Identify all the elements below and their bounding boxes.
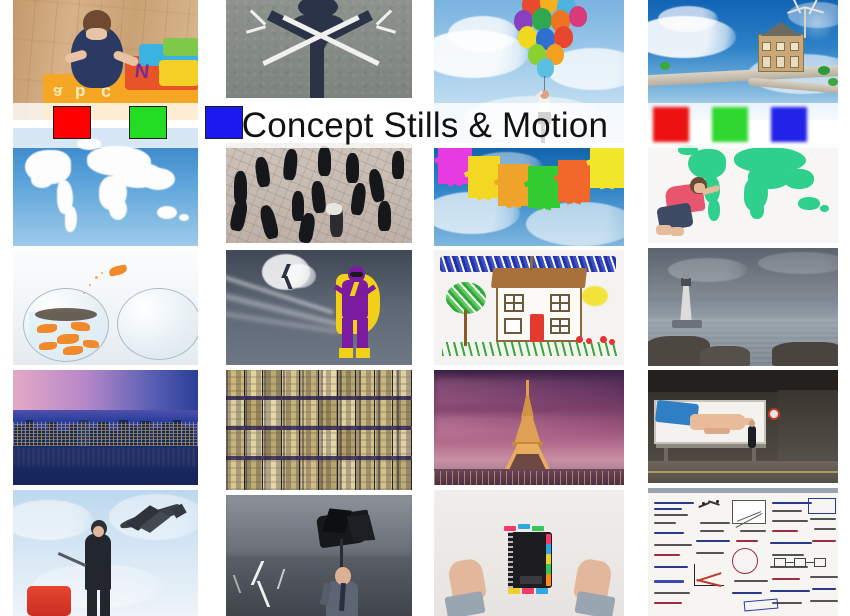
tile-girl-alphabet-puzzle[interactable]: a b c N bbox=[13, 0, 198, 120]
tile-commuters-overhead[interactable] bbox=[226, 143, 412, 243]
tile-lighthouse-seascape[interactable] bbox=[648, 248, 838, 366]
tile-office-windows[interactable] bbox=[226, 370, 412, 490]
red-swatch bbox=[53, 106, 91, 139]
rgb-swatches-right bbox=[653, 107, 807, 142]
tile-broken-umbrella-lightning[interactable] bbox=[226, 495, 412, 616]
blue-swatch bbox=[205, 106, 243, 139]
tile-child-green-world-map[interactable] bbox=[648, 143, 838, 243]
red-swatch bbox=[653, 107, 689, 142]
column-4 bbox=[648, 0, 838, 616]
tile-goldfish-bowls[interactable] bbox=[13, 250, 198, 365]
column-3 bbox=[434, 0, 624, 616]
green-swatch bbox=[129, 106, 167, 139]
tile-house-branch-windmill[interactable] bbox=[648, 0, 838, 120]
tile-whiteboard-strategy[interactable] bbox=[648, 488, 838, 616]
column-1: a b c N bbox=[13, 0, 198, 616]
tile-shadow-arrows[interactable] bbox=[226, 0, 412, 98]
column-2 bbox=[226, 0, 412, 616]
collage-page: a b c N bbox=[0, 0, 850, 616]
tile-city-skyline-night[interactable] bbox=[13, 370, 198, 485]
tile-notebook-hands[interactable] bbox=[434, 490, 624, 616]
tile-businessman-airplane[interactable] bbox=[13, 490, 198, 616]
tile-eiffel-tower[interactable] bbox=[434, 370, 624, 485]
tile-child-house-drawing[interactable] bbox=[434, 250, 624, 365]
tile-superhero-storm[interactable] bbox=[226, 250, 412, 365]
green-swatch bbox=[712, 107, 748, 142]
tile-paper-people-chain[interactable] bbox=[434, 148, 624, 246]
rgb-swatches-left bbox=[53, 106, 243, 139]
tile-billboard-pointing-hand[interactable] bbox=[648, 370, 838, 483]
blue-swatch bbox=[771, 107, 807, 142]
